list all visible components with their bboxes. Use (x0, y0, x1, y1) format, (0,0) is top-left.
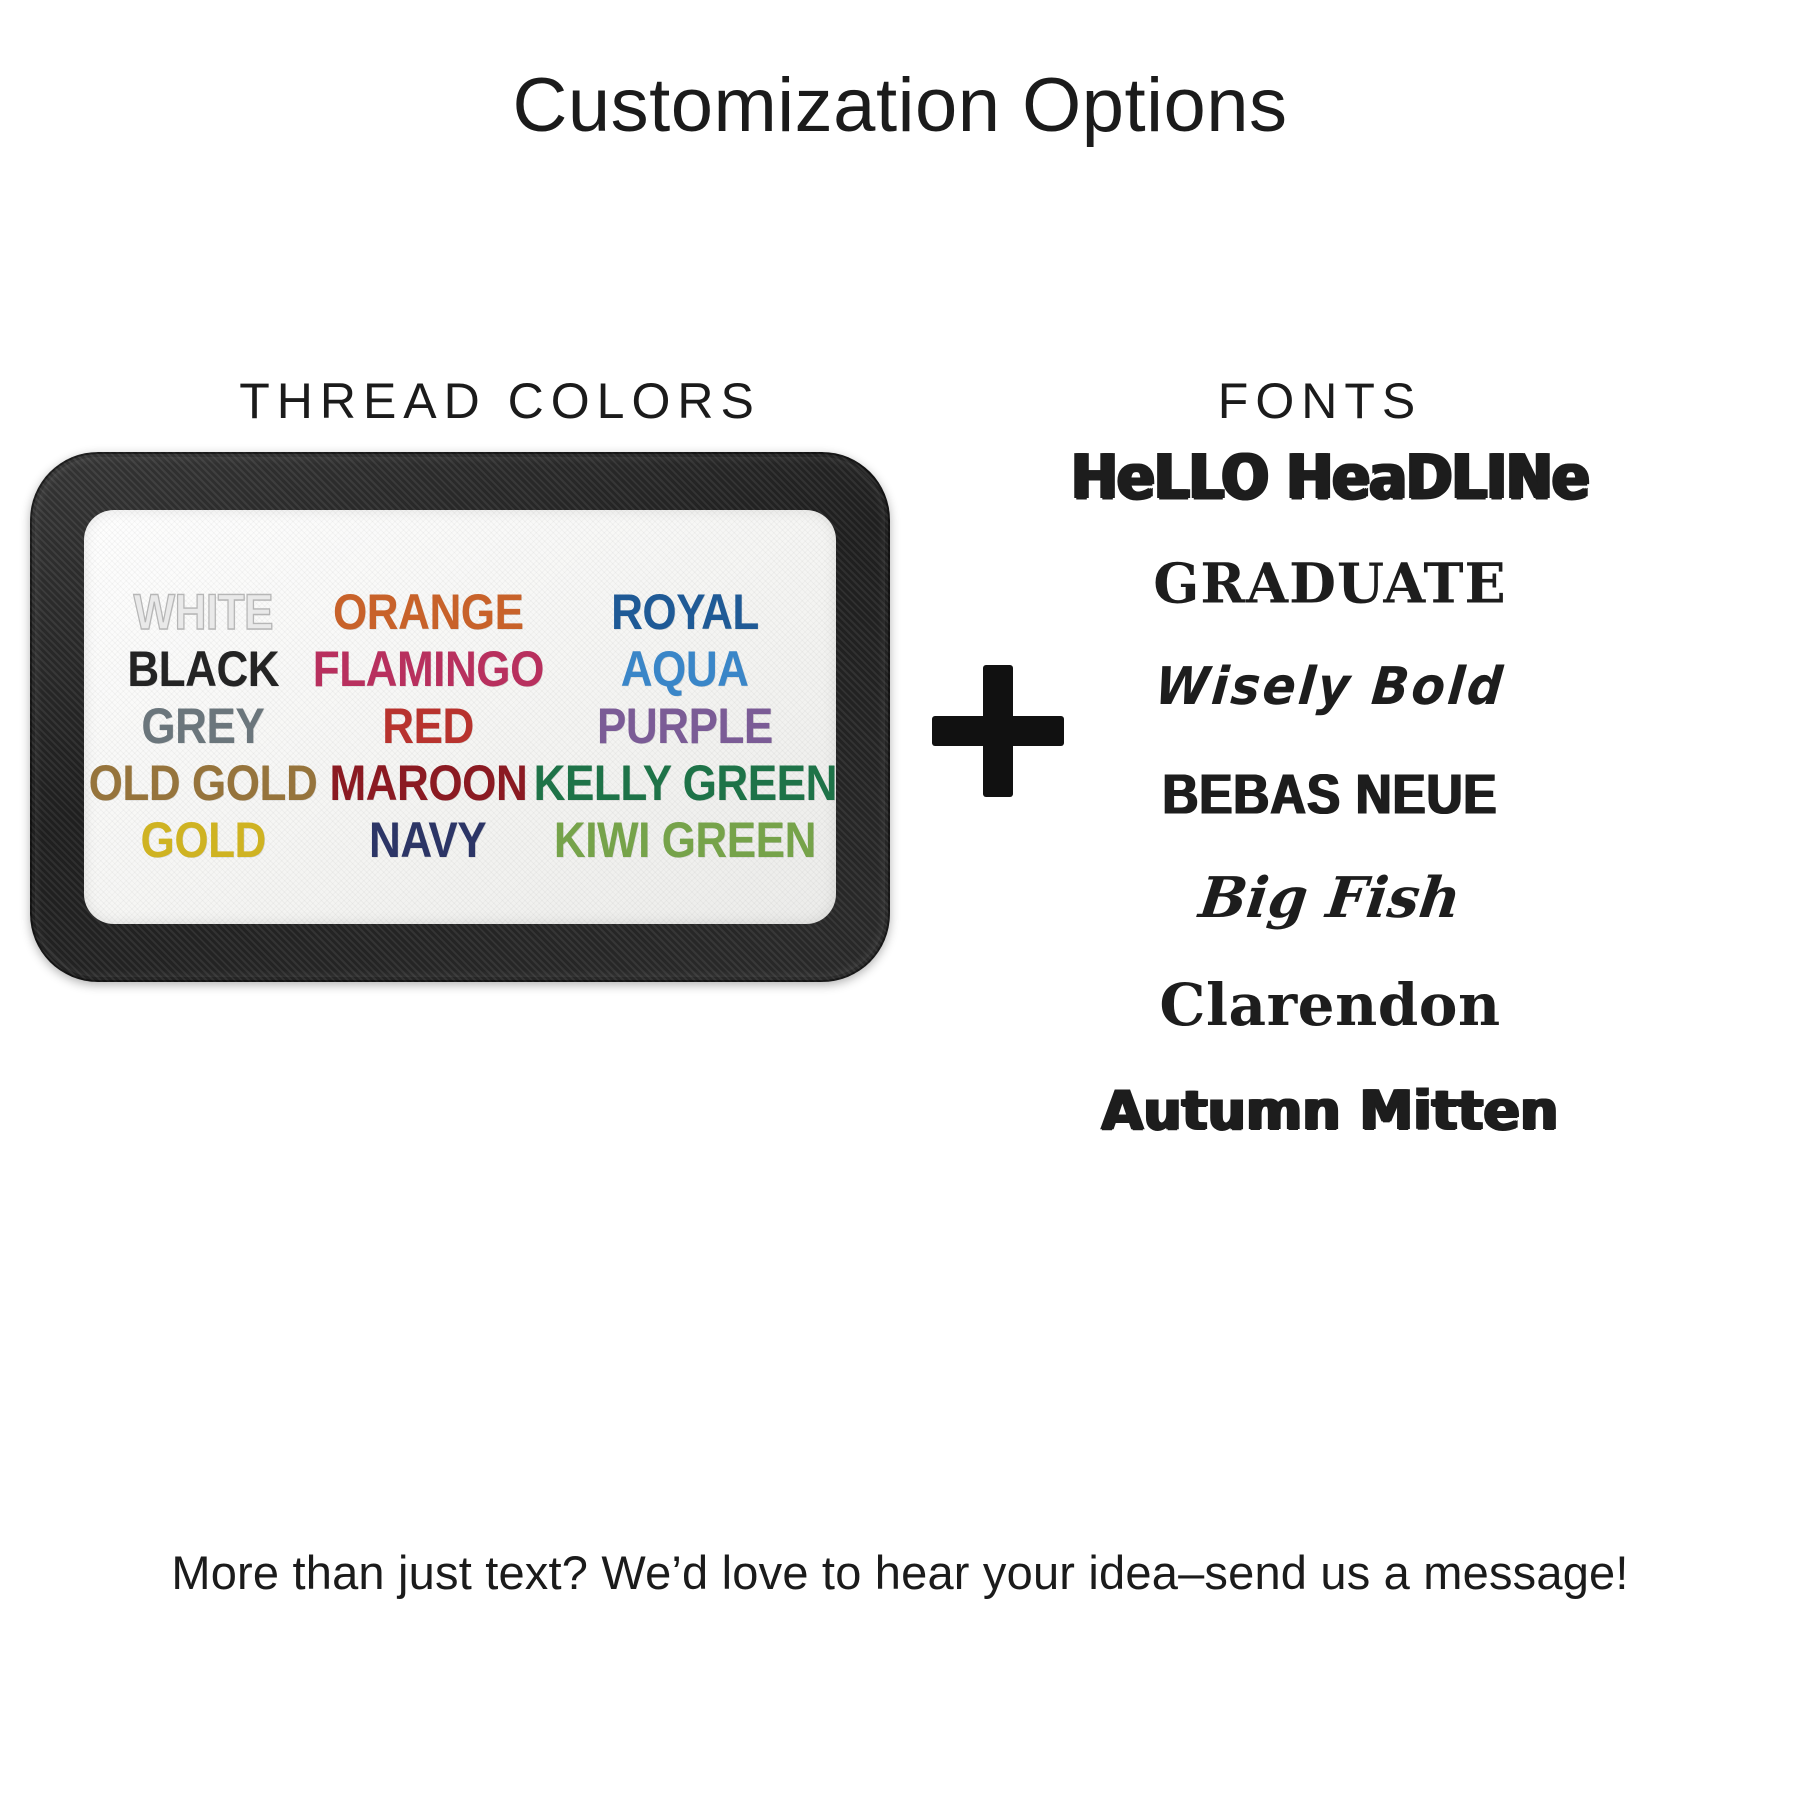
thread-swatch-royal: ROYAL (611, 584, 759, 641)
patch-face: WHITE BLACK GREY OLD GOLD GOLD ORANGE FL… (84, 510, 836, 924)
thread-swatch-aqua: AQUA (621, 641, 749, 698)
font-sample-wisely-bold: Wisely Bold (1038, 661, 1623, 713)
thread-color-column-1: WHITE BLACK GREY OLD GOLD GOLD (92, 584, 314, 869)
thread-swatch-maroon: MAROON (329, 755, 527, 812)
font-samples-list: HeLLO HeaDLINe GRADUATE Wisely Bold BEBA… (1040, 440, 1620, 1180)
font-sample-graduate: GRADUATE (1040, 555, 1620, 610)
footer-note: More than just text? We’d love to hear y… (0, 1545, 1800, 1600)
thread-color-column-2: ORANGE FLAMINGO RED MAROON NAVY (314, 584, 542, 869)
thread-swatch-navy: NAVY (369, 812, 486, 869)
thread-swatch-white: WHITE (133, 584, 273, 641)
thread-swatch-kiwi-green: KIWI GREEN (554, 812, 816, 869)
thread-swatch-grey: GREY (142, 698, 265, 755)
plus-icon-vertical-bar (983, 665, 1013, 797)
thread-swatch-red: RED (382, 698, 474, 755)
page-title: Customization Options (0, 62, 1800, 149)
thread-swatch-flamingo: FLAMINGO (312, 641, 543, 698)
font-sample-hello-headline: HeLLO HeaDLINe (1040, 447, 1620, 509)
thread-swatch-old-gold: OLD GOLD (89, 755, 318, 812)
fonts-heading: FONTS (1040, 372, 1600, 430)
thread-swatch-gold: GOLD (140, 812, 265, 869)
thread-color-column-3: ROYAL AQUA PURPLE KELLY GREEN KIWI GREEN (542, 584, 828, 869)
thread-color-patch: WHITE BLACK GREY OLD GOLD GOLD ORANGE FL… (30, 452, 890, 982)
font-sample-big-fish: Big Fish (1037, 870, 1624, 926)
thread-swatch-orange: ORANGE (333, 584, 523, 641)
font-sample-clarendon: Clarendon (1040, 976, 1620, 1034)
thread-swatch-purple: PURPLE (597, 698, 773, 755)
thread-swatch-black: BLACK (127, 641, 279, 698)
thread-swatch-kelly-green: KELLY GREEN (533, 755, 836, 812)
thread-color-columns: WHITE BLACK GREY OLD GOLD GOLD ORANGE FL… (84, 584, 836, 884)
font-sample-autumn-mitten: Autumn Mitten (1040, 1084, 1620, 1138)
thread-colors-heading: THREAD COLORS (60, 372, 940, 430)
font-sample-bebas-neue: BEBAS NEUE (1063, 767, 1597, 823)
